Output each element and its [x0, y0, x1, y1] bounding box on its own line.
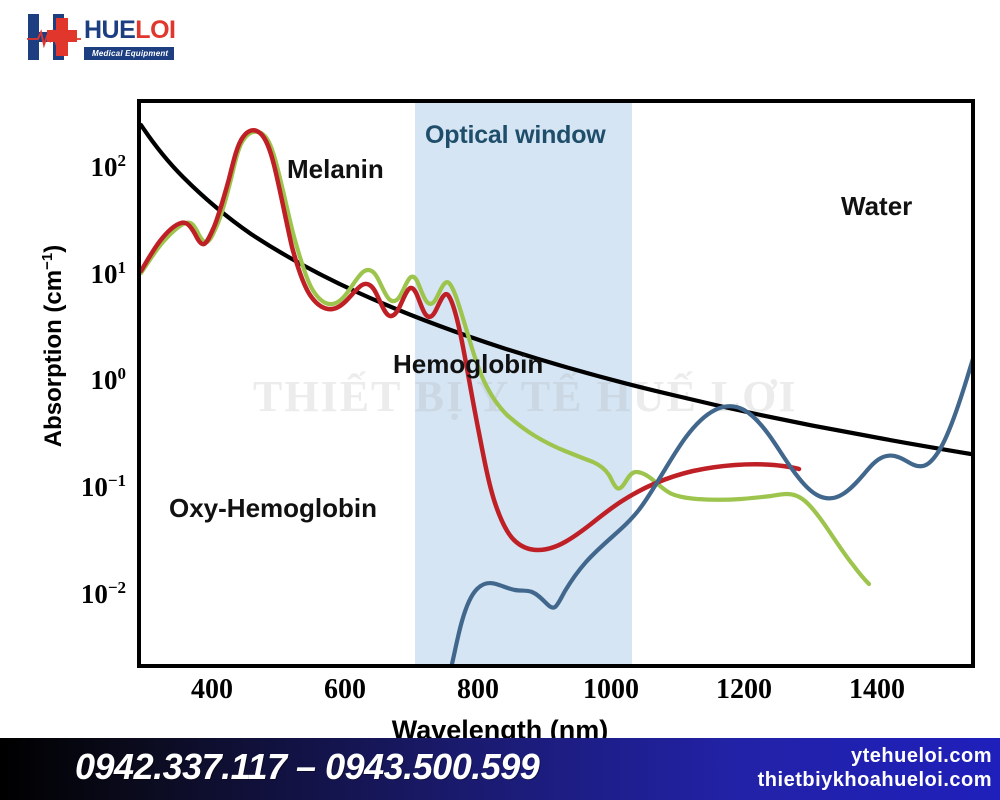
banner-website-2[interactable]: thietbiykhoahueloi.com: [758, 768, 992, 792]
x-tick-4: 1200: [684, 674, 804, 706]
heartbeat-icon: [27, 28, 81, 48]
logo-title-hue: HUE: [84, 16, 135, 44]
absorption-spectrum-chart: 102 101 100 10−1 10−2 Absorption (cm−1) …: [0, 70, 1000, 670]
logo-text: HUELOI Medical Equipment: [84, 18, 175, 61]
logo-title: HUELOI: [84, 18, 175, 43]
logo-subtitle: Medical Equipment: [84, 47, 174, 60]
contact-banner: 0942.337.117 – 0943.500.599 ytehueloi.co…: [0, 738, 1000, 800]
optical-window-label: Optical window: [425, 121, 606, 150]
annotation-oxy-hemoglobin: Oxy-Hemoglobin: [169, 493, 377, 524]
logo-mark-icon: [26, 14, 78, 60]
x-tick-3: 1000: [551, 674, 671, 706]
brand-logo: HUELOI Medical Equipment: [26, 12, 226, 64]
x-tick-2: 800: [418, 674, 538, 706]
x-tick-0: 400: [152, 674, 272, 706]
annotation-hemoglobin: Hemoglobin: [393, 349, 543, 380]
y-tick-4: 10−2: [46, 581, 126, 608]
annotation-water: Water: [841, 191, 912, 222]
y-tick-3: 10−1: [46, 474, 126, 501]
plot-area: THIẾT BỊ Y TẾ HUẾ LỢI Optical window Mel…: [137, 99, 975, 668]
curves-svg: [141, 103, 971, 664]
banner-websites: ytehueloi.com thietbiykhoahueloi.com: [758, 744, 992, 792]
banner-phone-numbers: 0942.337.117 – 0943.500.599: [75, 746, 539, 788]
series-melanin-path: [141, 125, 971, 454]
y-axis-label: Absorption (cm−1): [40, 216, 68, 476]
annotation-melanin: Melanin: [287, 154, 384, 185]
series-water-path: [452, 252, 971, 664]
y-tick-0: 102: [46, 154, 126, 181]
x-tick-5: 1400: [817, 674, 937, 706]
logo-title-loi: LOI: [135, 16, 175, 44]
x-tick-1: 600: [285, 674, 405, 706]
banner-website-1[interactable]: ytehueloi.com: [758, 744, 992, 768]
